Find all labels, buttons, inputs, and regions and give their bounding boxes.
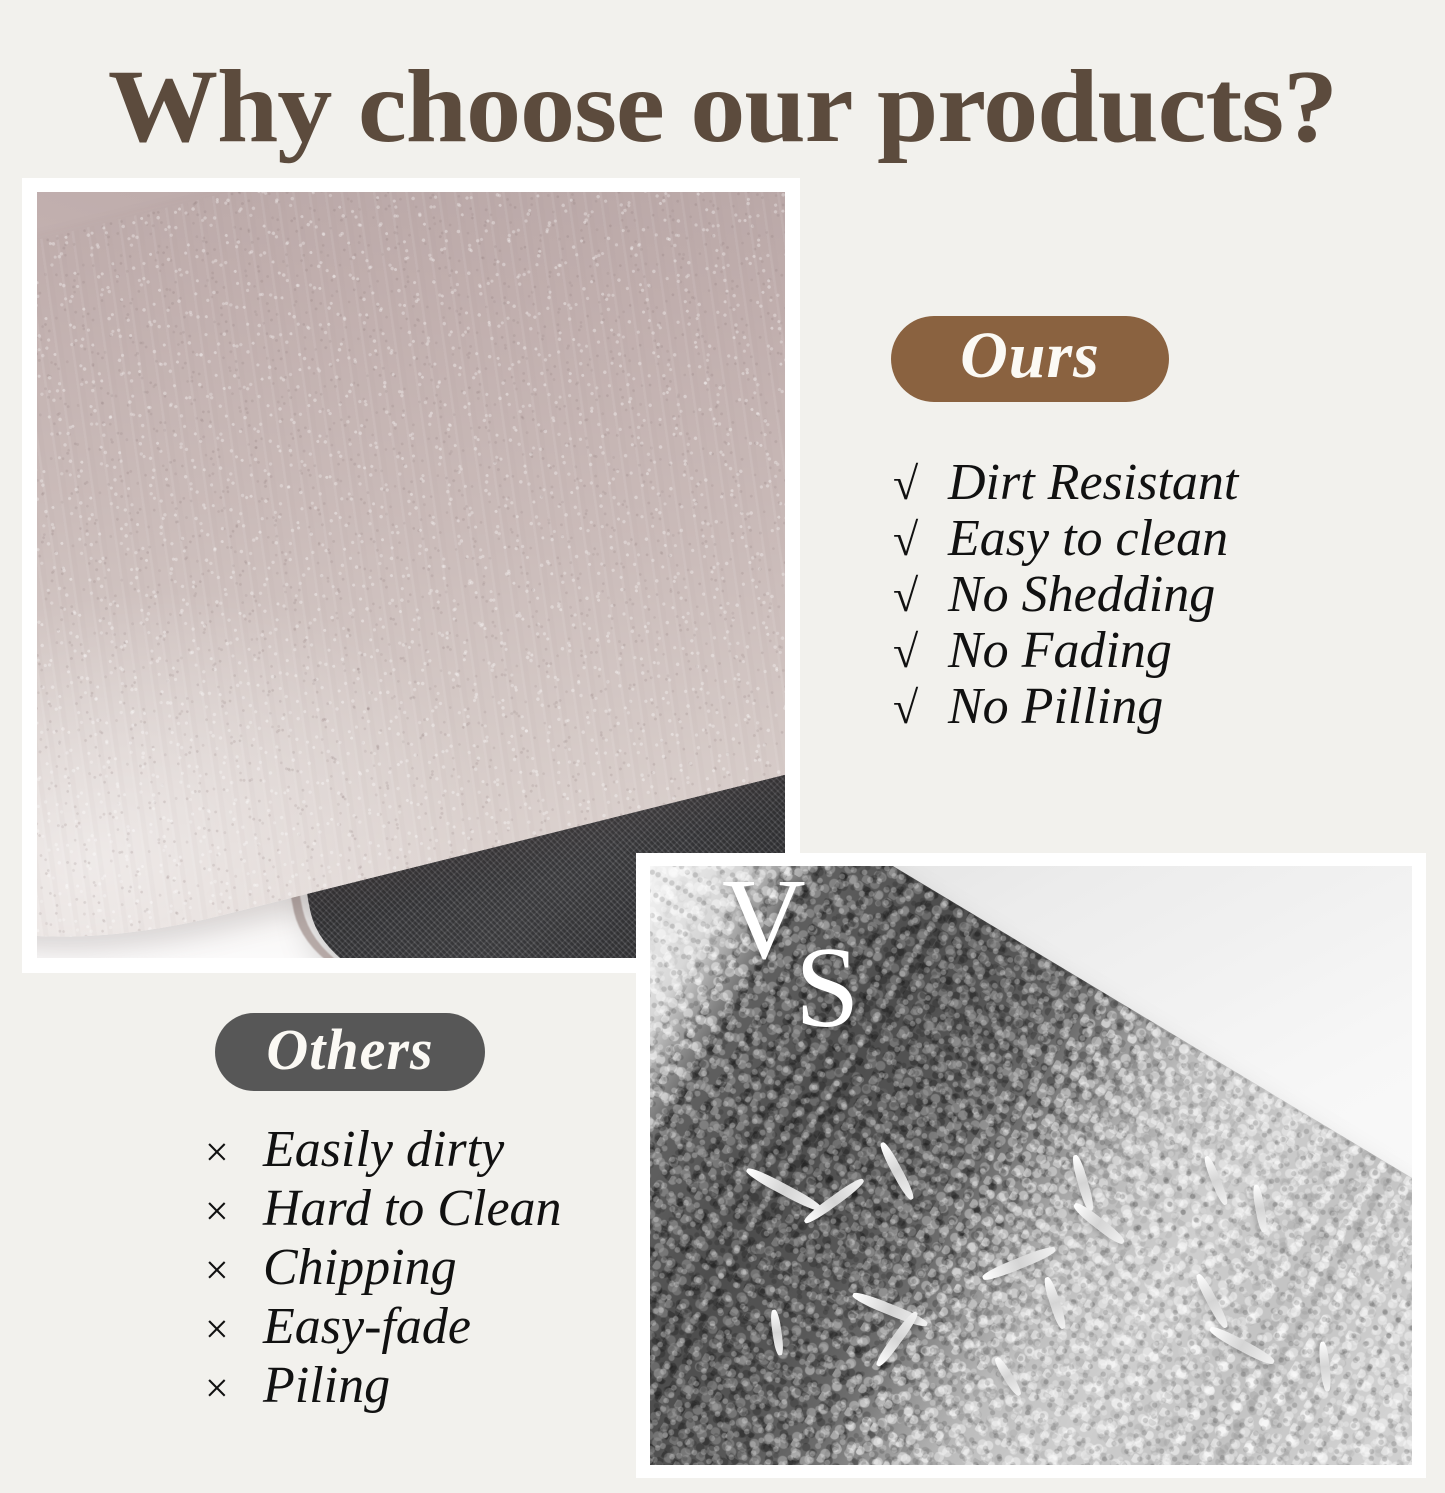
mauve-pu-leather-mat-photo — [37, 192, 785, 958]
cross-icon: × — [205, 1303, 263, 1358]
others-feature-list: × Easily dirty × Hard to Clean × Chippin… — [205, 1122, 562, 1417]
check-icon: √ — [893, 680, 948, 735]
list-item: × Easy-fade — [205, 1299, 562, 1358]
feature-label: Chipping — [263, 1240, 457, 1295]
feature-label: No Shedding — [948, 567, 1215, 622]
list-item: × Easily dirty — [205, 1122, 562, 1181]
gray-shaggy-rug-photo — [650, 866, 1412, 1465]
check-icon: √ — [893, 456, 948, 511]
list-item: √ No Shedding — [893, 567, 1238, 623]
cross-icon: × — [205, 1362, 263, 1417]
ours-badge-label: Ours — [960, 318, 1100, 394]
list-item: √ Easy to clean — [893, 511, 1238, 567]
cross-icon: × — [205, 1126, 263, 1181]
ours-feature-list: √ Dirt Resistant √ Easy to clean √ No Sh… — [893, 455, 1238, 735]
feature-label: Hard to Clean — [263, 1181, 562, 1236]
page-title: Why choose our products? — [0, 52, 1445, 161]
check-icon: √ — [893, 568, 948, 623]
list-item: √ No Pilling — [893, 679, 1238, 735]
cross-icon: × — [205, 1244, 263, 1299]
feature-label: Easy to clean — [948, 511, 1228, 566]
list-item: √ No Fading — [893, 623, 1238, 679]
feature-label: Piling — [263, 1358, 390, 1413]
cross-icon: × — [205, 1185, 263, 1240]
feature-label: Easily dirty — [263, 1122, 504, 1177]
check-icon: √ — [893, 512, 948, 567]
others-photo-frame — [636, 853, 1426, 1478]
list-item: × Chipping — [205, 1240, 562, 1299]
list-item: × Piling — [205, 1358, 562, 1417]
infographic-page: Why choose our products? — [0, 0, 1445, 1493]
ours-badge: Ours — [891, 316, 1169, 402]
others-badge: Others — [215, 1013, 485, 1091]
others-badge-label: Others — [266, 1016, 433, 1083]
check-icon: √ — [893, 624, 948, 679]
list-item: √ Dirt Resistant — [893, 455, 1238, 511]
feature-label: Easy-fade — [263, 1299, 471, 1354]
feature-label: No Fading — [948, 623, 1172, 678]
feature-label: No Pilling — [948, 679, 1163, 734]
list-item: × Hard to Clean — [205, 1181, 562, 1240]
feature-label: Dirt Resistant — [948, 455, 1238, 510]
